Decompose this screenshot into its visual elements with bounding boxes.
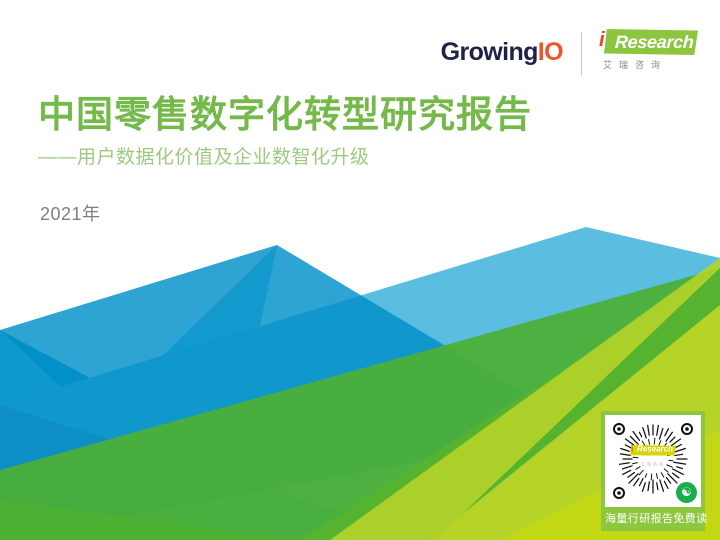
iresearch-logo: i Research 艾瑞咨询 bbox=[598, 29, 698, 79]
iresearch-logo-chinese-name: 艾瑞咨询 bbox=[603, 58, 667, 71]
header-logo-bar: GrowingIO i Research 艾瑞咨询 bbox=[441, 26, 698, 82]
wechat-miniprogram-icon[interactable]: ☯ bbox=[676, 482, 697, 503]
qr-code-image[interactable]: i Research 艾瑞咨询 ☯ bbox=[605, 415, 701, 507]
qr-card-caption: 海量行研报告免费读 bbox=[605, 507, 701, 531]
page-subtitle: ——用户数据化价值及企业数智化升级 bbox=[38, 144, 532, 172]
qr-code-card[interactable]: i Research 艾瑞咨询 ☯ 海量行研报告免费读 bbox=[601, 411, 705, 531]
iresearch-logo-initial: i bbox=[599, 28, 605, 52]
logo-divider bbox=[581, 32, 582, 76]
publication-year: 2021年 bbox=[40, 200, 101, 226]
report-cover-page: GrowingIO i Research 艾瑞咨询 中国零售数字化转型研究报告 … bbox=[0, 0, 720, 540]
growingio-logo-accent-text: IO bbox=[538, 38, 563, 66]
growingio-logo-primary-text: Growing bbox=[441, 38, 538, 66]
page-title: 中国零售数字化转型研究报告 bbox=[38, 92, 532, 138]
iresearch-logo-wordmark: Research bbox=[614, 31, 694, 53]
title-block: 中国零售数字化转型研究报告 ——用户数据化价值及企业数智化升级 bbox=[38, 92, 532, 172]
growingio-logo: GrowingIO bbox=[441, 40, 563, 69]
